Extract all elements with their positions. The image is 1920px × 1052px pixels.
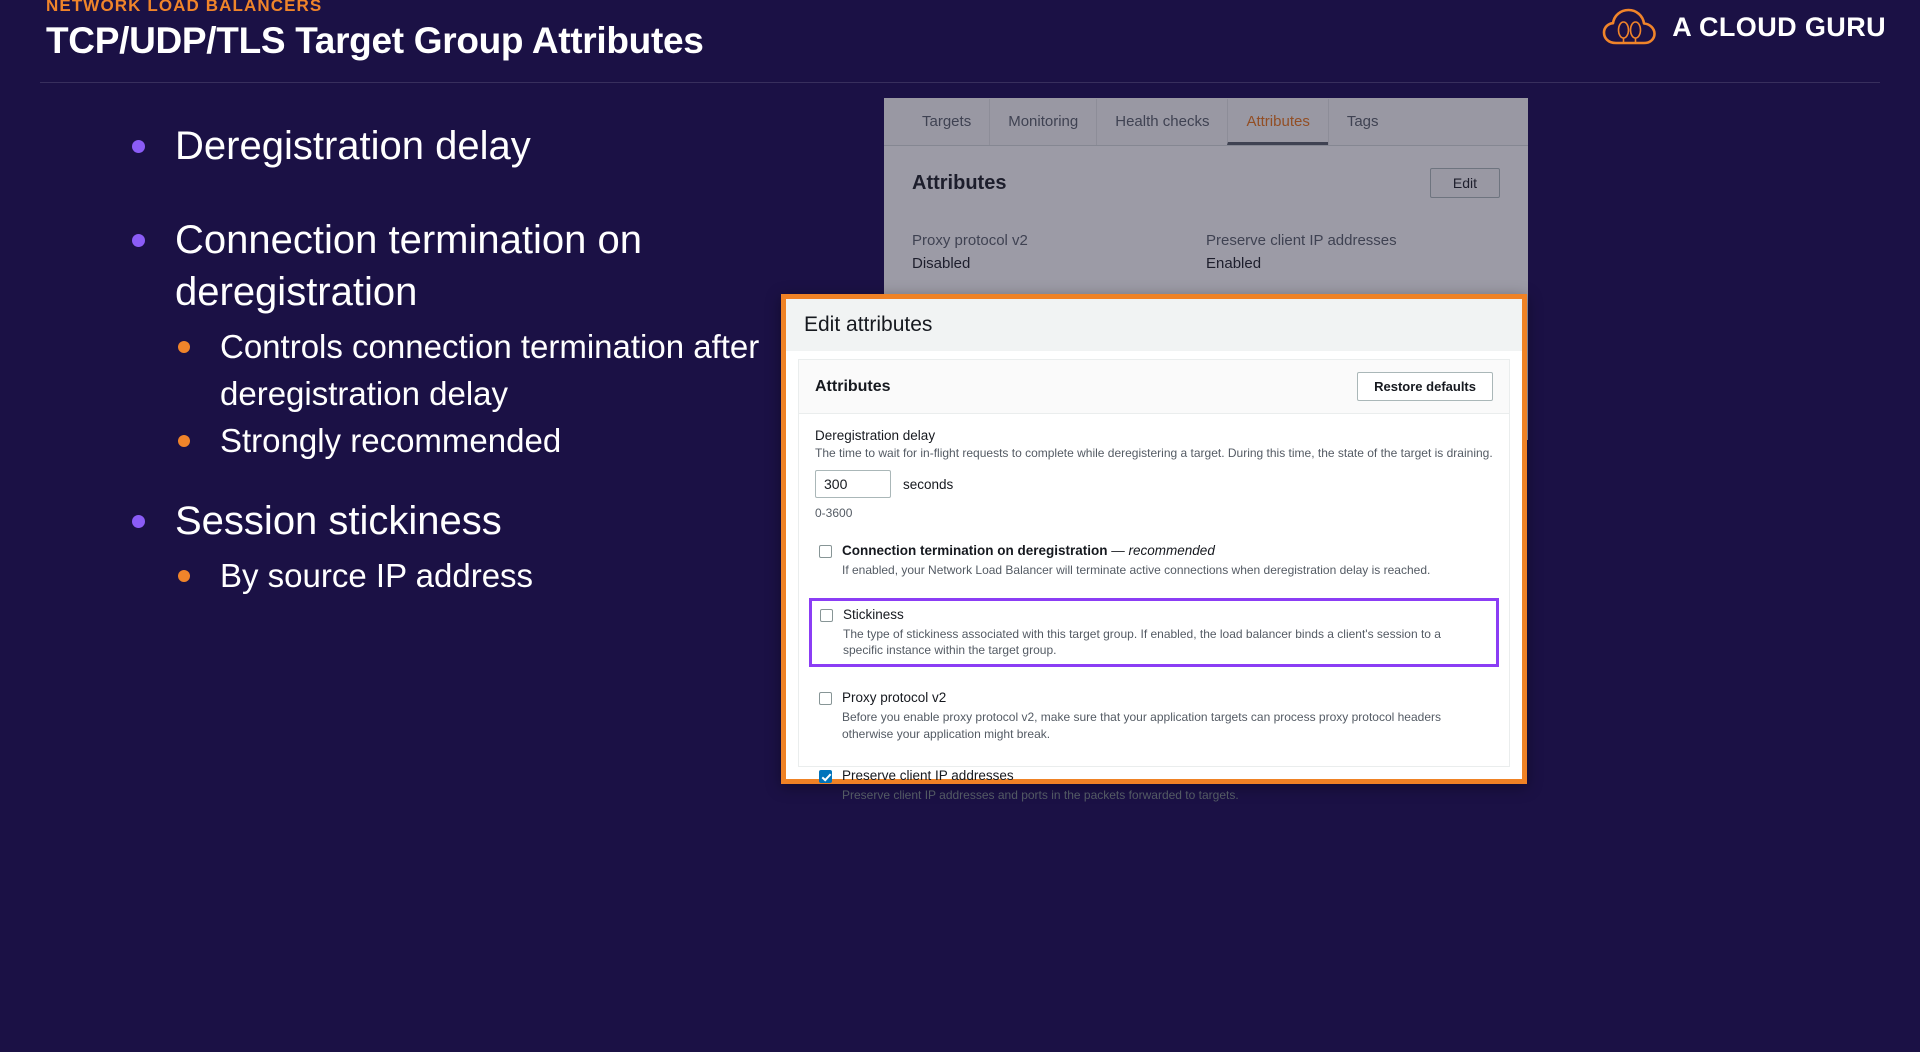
modal-title-bar: Edit attributes	[786, 299, 1522, 351]
tab-tags[interactable]: Tags	[1328, 99, 1397, 145]
bullet-item-1: Deregistration delay	[120, 120, 880, 172]
attributes-panel-body: Deregistration delay The time to wait fo…	[799, 414, 1509, 806]
checkbox-row-preserve-client-ip[interactable]: Preserve client IP addresses Preserve cl…	[815, 765, 1493, 806]
console-attribute-proxy-protocol: Proxy protocol v2 Disabled	[912, 232, 1206, 272]
modal-title: Edit attributes	[804, 313, 932, 337]
spacer	[120, 178, 880, 214]
console-section-header: Attributes Edit	[912, 168, 1500, 198]
deregistration-delay-description: The time to wait for in-flight requests …	[815, 445, 1493, 461]
checkbox-description-preserve-client-ip: Preserve client IP addresses and ports i…	[842, 787, 1482, 803]
bullet-item-2: Connection termination on deregistration	[120, 214, 880, 318]
checkbox-description-connection-termination: If enabled, your Network Load Balancer w…	[842, 562, 1482, 578]
checkbox-label-proxy-protocol-v2: Proxy protocol v2	[842, 690, 1489, 706]
restore-defaults-button[interactable]: Restore defaults	[1357, 372, 1493, 401]
deregistration-delay-field: Deregistration delay The time to wait fo…	[815, 428, 1493, 520]
attribute-value: Disabled	[912, 255, 1206, 272]
checkbox-row-stickiness[interactable]: Stickiness The type of stickiness associ…	[809, 598, 1499, 668]
spacer	[120, 465, 880, 495]
slide-eyebrow: NETWORK LOAD BALANCERS	[46, 0, 322, 16]
checkbox-label-preserve-client-ip: Preserve client IP addresses	[842, 768, 1489, 784]
checkbox-label-stickiness: Stickiness	[843, 607, 1488, 623]
brand-name: A CLOUD GURU	[1672, 12, 1886, 43]
bullet-item-3: Controls connection termination after de…	[120, 324, 880, 418]
tab-targets[interactable]: Targets	[904, 99, 989, 145]
deregistration-delay-input[interactable]	[815, 470, 891, 498]
bullet-item-4: Strongly recommended	[120, 418, 880, 465]
checkbox-description-proxy-protocol-v2: Before you enable proxy protocol v2, mak…	[842, 709, 1482, 741]
console-section-title: Attributes	[912, 172, 1006, 195]
edit-attributes-modal: Edit attributes Attributes Restore defau…	[781, 294, 1527, 784]
label-text: Connection termination on deregistration	[842, 543, 1108, 558]
attributes-panel-title: Attributes	[815, 378, 891, 396]
checkbox-connection-termination[interactable]	[819, 545, 832, 558]
checkbox-stickiness[interactable]	[820, 609, 833, 622]
attributes-panel-header: Attributes Restore defaults	[799, 360, 1509, 414]
checkbox-row-connection-termination[interactable]: Connection termination on deregistration…	[815, 540, 1493, 581]
attributes-panel: Attributes Restore defaults Deregistrati…	[798, 359, 1510, 767]
deregistration-delay-input-row: seconds	[815, 470, 1493, 498]
attribute-key: Preserve client IP addresses	[1206, 232, 1500, 249]
checkbox-row-proxy-protocol-v2[interactable]: Proxy protocol v2 Before you enable prox…	[815, 687, 1493, 745]
bullet-list: Deregistration delay Connection terminat…	[120, 120, 880, 599]
console-body: Attributes Edit Proxy protocol v2 Disabl…	[884, 146, 1528, 272]
header-divider	[40, 82, 1880, 83]
label-suffix: — recommended	[1111, 543, 1215, 558]
console-attribute-grid: Proxy protocol v2 Disabled Preserve clie…	[912, 232, 1500, 272]
console-tab-bar: Targets Monitoring Health checks Attribu…	[884, 98, 1528, 146]
checkbox-description-stickiness: The type of stickiness associated with t…	[843, 626, 1483, 658]
page-title: TCP/UDP/TLS Target Group Attributes	[46, 20, 704, 62]
attribute-key: Proxy protocol v2	[912, 232, 1206, 249]
deregistration-delay-range-hint: 0-3600	[815, 506, 1493, 520]
attribute-value: Enabled	[1206, 255, 1500, 272]
checkbox-proxy-protocol-v2[interactable]	[819, 692, 832, 705]
console-attribute-preserve-client-ip: Preserve client IP addresses Enabled	[1206, 232, 1500, 272]
tab-monitoring[interactable]: Monitoring	[989, 99, 1096, 145]
tab-health-checks[interactable]: Health checks	[1096, 99, 1227, 145]
checkbox-label-connection-termination: Connection termination on deregistration…	[842, 543, 1489, 559]
deregistration-delay-label: Deregistration delay	[815, 428, 1493, 443]
deregistration-delay-unit: seconds	[903, 477, 953, 492]
modal-body: Attributes Restore defaults Deregistrati…	[786, 351, 1522, 779]
checkbox-preserve-client-ip[interactable]	[819, 770, 832, 783]
cloud-guru-logo-icon	[1602, 6, 1658, 48]
slide-root: NETWORK LOAD BALANCERS TCP/UDP/TLS Targe…	[0, 0, 1920, 1052]
brand-logo-group: A CLOUD GURU	[1602, 6, 1886, 48]
bullet-item-6: By source IP address	[120, 553, 880, 600]
tab-attributes[interactable]: Attributes	[1227, 99, 1327, 145]
bullet-item-5: Session stickiness	[120, 495, 880, 547]
edit-button[interactable]: Edit	[1430, 168, 1500, 198]
